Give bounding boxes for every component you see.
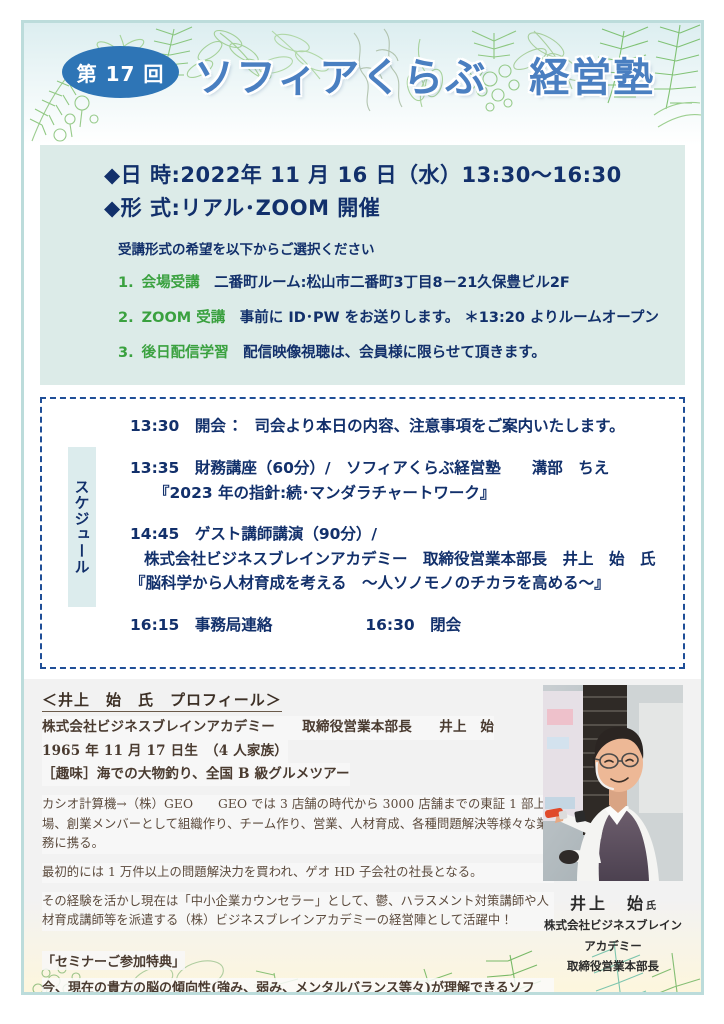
schedule-section: スケジュール 13:30 開会 ： 司会より本日の内容、注意事項をご案内いたしま… xyxy=(40,397,685,669)
option-keyword: 後日配信学習 xyxy=(142,345,229,361)
option-detail: 二番町ルーム:松山市二番町3丁目8－21久保豊ビル2F xyxy=(200,275,570,291)
speaker-profile-section: ＜井上 始 氏 プロフィール＞ 株式会社ビジネスブレインアカデミー 取締役営業本… xyxy=(24,679,701,995)
attendance-option-3[interactable]: 3.後日配信学習 配信映像視聴は、会員様に限らせて頂きます。 xyxy=(118,334,685,369)
bonus-description: 今、現在の貴方の脳の傾向性(強み、弱み、メンタルバランス等々)が理解できるソフト… xyxy=(42,978,554,995)
event-info-box: ◆日 時:2022年 11 月 16 日（水）13:30〜16:30 ◆形 式:… xyxy=(40,145,685,385)
header-banner: 第 17 回 ソフィアくらぶ 経営塾 xyxy=(24,23,701,145)
option-detail: 事前に ID･PW をお送りします。 ＊13:20 よりルームオープン xyxy=(225,310,659,326)
speaker-org-line-1: 株式会社ビジネスブレイン xyxy=(543,917,683,934)
attendance-option-1[interactable]: 1.会場受講 二番町ルーム:松山市二番町3丁目8－21久保豊ビル2F xyxy=(118,264,685,299)
schedule-item-closing: 16:15 事務局連絡 16:30 閉会 xyxy=(130,612,673,639)
speaker-name: 井上 始氏 xyxy=(543,890,683,914)
event-format: ◆形 式:リアル･ZOOM 開催 xyxy=(40,192,685,225)
schedule-row-speaker: 株式会社ビジネスブレインアカデミー 取締役営業本部長 井上 始 氏 xyxy=(130,547,673,572)
flyer-frame: 第 17 回 ソフィアくらぶ 経営塾 ◆日 時:2022年 11 月 16 日（… xyxy=(21,20,704,995)
profile-paragraph-career: カシオ計算機→（株）GEO GEO では 3 店舗の時代から 3000 店舗まで… xyxy=(42,795,554,854)
schedule-item-guest-lecture: 14:45 ゲスト講師講演（90分）/ 株式会社ビジネスブレインアカデミー 取締… xyxy=(130,522,673,596)
flyer-page: 第 17 回 ソフィアくらぶ 経営塾 ◆日 時:2022年 11 月 16 日（… xyxy=(0,0,724,1024)
attendance-options-list: 1.会場受講 二番町ルーム:松山市二番町3丁目8－21久保豊ビル2F 2.ZOO… xyxy=(40,264,685,369)
option-keyword: ZOOM 受講 xyxy=(142,310,226,326)
schedule-item-opening: 13:30 開会 ： 司会より本日の内容、注意事項をご案内いたします。 xyxy=(130,413,673,440)
profile-heading: ＜井上 始 氏 プロフィール＞ xyxy=(42,689,282,712)
profile-birth: 1965 年 11 月 17 日生 （4 人家族） xyxy=(42,740,288,763)
option-number: 2. xyxy=(118,310,134,326)
bonus-heading: 「セミナーご参加特典」 xyxy=(42,951,185,970)
schedule-row-subtitle: 『2023 年の指針:続･マンダラチャートワーク』 xyxy=(130,481,673,506)
profile-hobby: ［趣味］海での大物釣り、全国 B 級グルメツアー xyxy=(42,763,350,786)
schedule-item-finance-lecture: 13:35 財務講座（60分）/ ソフィアくらぶ経営塾 溝部 ちえ 『2023 … xyxy=(130,456,673,506)
profile-text-column: ＜井上 始 氏 プロフィール＞ 株式会社ビジネスブレインアカデミー 取締役営業本… xyxy=(24,689,554,995)
schedule-row-subtitle: 『脳科学から人材育成を考える 〜人ソノモノのチカラを高める〜』 xyxy=(130,571,673,596)
schedule-body: 13:30 開会 ： 司会より本日の内容、注意事項をご案内いたします。 13:3… xyxy=(42,413,673,639)
schedule-row: 16:15 事務局連絡 16:30 閉会 xyxy=(130,612,673,639)
event-datetime: ◆日 時:2022年 11 月 16 日（水）13:30〜16:30 xyxy=(40,159,685,192)
speaker-org-line-3: 取締役営業本部長 xyxy=(543,958,683,975)
speaker-name-text: 井上 始 xyxy=(570,894,646,913)
speaker-name-suffix: 氏 xyxy=(646,901,656,912)
profile-spacer xyxy=(42,931,554,947)
profile-company-role: 株式会社ビジネスブレインアカデミー 取締役営業本部長 井上 始 xyxy=(42,716,494,739)
page-title: ソフィアくらぶ 経営塾 xyxy=(194,45,655,103)
schedule-tab-label: スケジュール xyxy=(68,447,96,607)
attendance-option-2[interactable]: 2.ZOOM 受講 事前に ID･PW をお送りします。 ＊13:20 よりルー… xyxy=(118,299,685,334)
schedule-row: 14:45 ゲスト講師講演（90分）/ xyxy=(130,522,673,547)
schedule-row: 13:35 財務講座（60分）/ ソフィアくらぶ経営塾 溝部 ちえ xyxy=(130,456,673,481)
profile-paragraph-achievement: 最初的には 1 万件以上の問題解決力を買われ、ゲオ HD 子会社の社長となる。 xyxy=(42,863,554,883)
option-detail: 配信映像視聴は、会員様に限らせて頂きます。 xyxy=(229,345,546,361)
selection-prompt: 受講形式の希望を以下からご選択ください xyxy=(40,224,685,264)
option-number: 3. xyxy=(118,345,134,361)
speaker-photo xyxy=(543,685,683,881)
speaker-org-line-2: アカデミー xyxy=(543,938,683,955)
issue-badge: 第 17 回 xyxy=(62,46,179,98)
option-keyword: 会場受講 xyxy=(142,275,200,291)
profile-paragraph-current: その経験を活かし現在は「中小企業カウンセラー」として、鬱、ハラスメント対策講師や… xyxy=(42,892,554,931)
option-number: 1. xyxy=(118,275,134,291)
schedule-row: 13:30 開会 ： 司会より本日の内容、注意事項をご案内いたします。 xyxy=(130,413,673,440)
speaker-card: 井上 始氏 株式会社ビジネスブレイン アカデミー 取締役営業本部長 xyxy=(543,685,683,975)
